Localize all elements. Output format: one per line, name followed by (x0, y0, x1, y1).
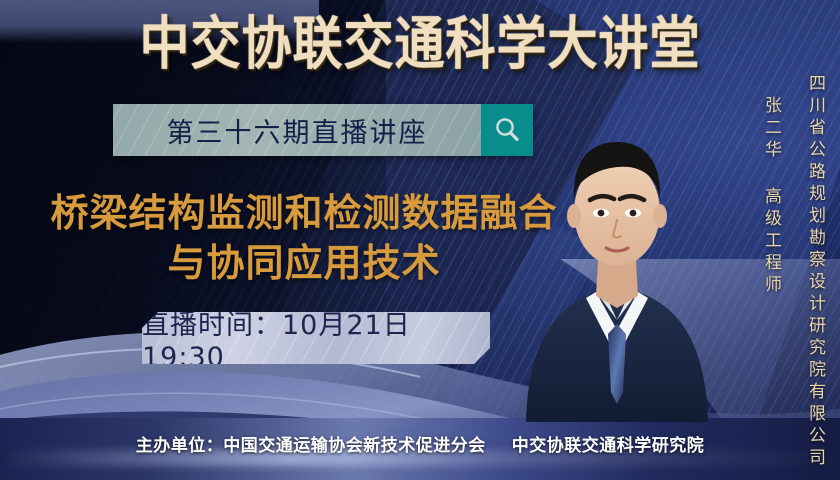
footer-prefix: 主办单位： (136, 436, 224, 456)
speaker-portrait (522, 92, 712, 422)
footer-organizers: 主办单位：中国交通运输协会新技术促进分会中交协联交通科学研究院 (0, 431, 840, 456)
episode-label-field[interactable]: 第三十六期直播讲座 (113, 104, 481, 156)
poster-canvas: 中交协联交通科学大讲堂 第三十六期直播讲座 桥梁结构监测和检测数据融合 与协同应… (0, 0, 840, 480)
lecture-title-line1: 桥梁结构监测和检测数据融合 (50, 191, 557, 235)
speaker-company: 四川省公路规划勘察设计研究院有限公司 (803, 74, 828, 470)
lecture-title: 桥梁结构监测和检测数据融合 与协同应用技术 (34, 188, 574, 288)
episode-label: 第三十六期直播讲座 (167, 111, 428, 150)
footer-org-2: 中交协联交通科学研究院 (512, 436, 705, 456)
speaker-name-title: 张二华 高级工程师 (759, 96, 784, 297)
episode-search-bar[interactable]: 第三十六期直播讲座 (113, 104, 533, 156)
search-icon (492, 115, 522, 145)
footer-org-1: 中国交通运输协会新技术促进分会 (223, 436, 486, 456)
broadcast-time-label: 直播时间：10月21日19:30 (142, 312, 490, 364)
lecture-title-line2: 与协同应用技术 (34, 238, 574, 288)
page-title: 中交协联交通科学大讲堂 (0, 14, 840, 74)
broadcast-time-banner: 直播时间：10月21日19:30 (142, 312, 490, 364)
